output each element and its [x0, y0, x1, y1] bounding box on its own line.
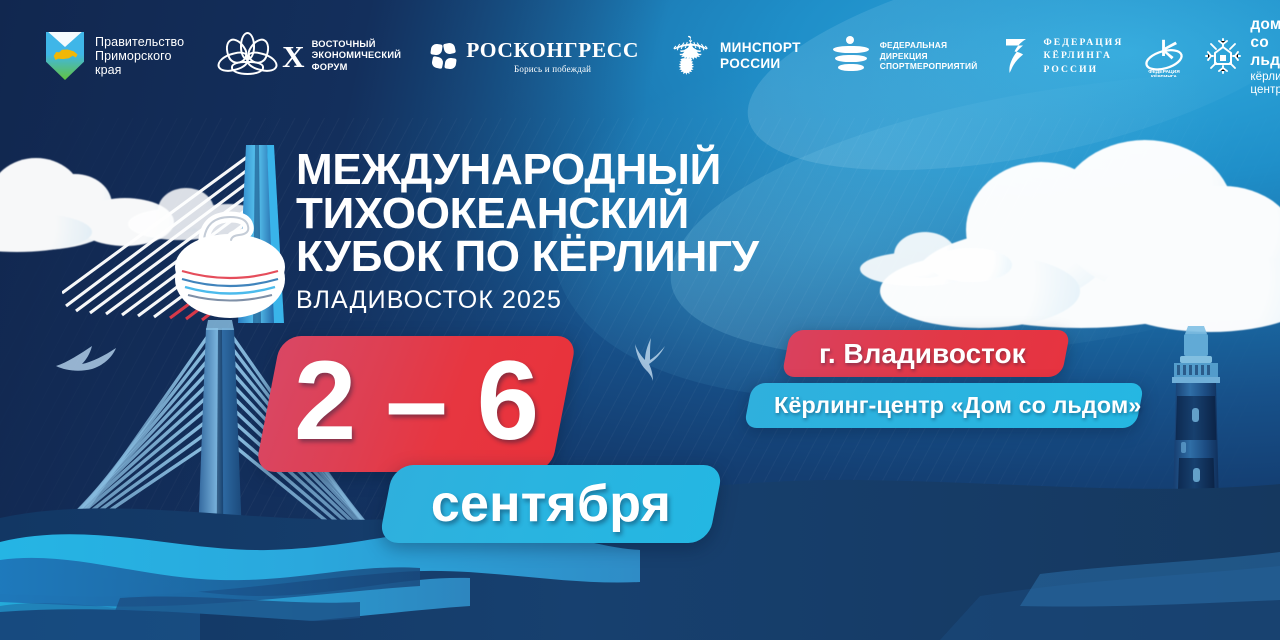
date-month-label: сентября	[431, 478, 671, 530]
sponsor-slogan: Борись и побеждай	[466, 64, 639, 74]
sponsor-line: Восточный	[312, 39, 402, 50]
snowflake-house-icon	[1205, 38, 1241, 74]
primorsky-crest-icon	[46, 32, 84, 80]
sponsor-logo-roscongress[interactable]: РОСКОНГРЕСС Борись и побеждай	[431, 38, 639, 73]
sponsor-logo-curling-federation-primorsky[interactable]: ФЕДЕРАЦИЯ КЁРЛИНГА	[1143, 35, 1197, 77]
sponsor-line: России	[1043, 63, 1123, 77]
venue-block: г. Владивосток Кёрлинг-центр «Дом со льд…	[748, 330, 1140, 428]
sponsor-line: РОССИИ	[720, 56, 801, 72]
sponsor-logo-minsport-russia[interactable]: МИНСПОРТ РОССИИ	[667, 33, 801, 79]
curling-stone-bridge-emblem	[62, 143, 304, 323]
cloud-right-small	[860, 228, 1020, 290]
lotus-icon	[218, 33, 276, 79]
sponsor-line: Федерация	[1043, 36, 1123, 50]
event-title-block: МЕЖДУНАРОДНЫЙ ТИХООКЕАНСКИЙ КУБОК ПО КЁР…	[296, 148, 759, 315]
venue-place-label: Кёрлинг-центр «Дом со льдом»	[774, 392, 1141, 419]
sponsor-line: Федеральная	[880, 40, 978, 51]
sponsor-name: РОСКОНГРЕСС	[466, 38, 639, 62]
roscongress-mark-icon	[431, 43, 458, 70]
title-line-1: МЕЖДУНАРОДНЫЙ	[296, 148, 759, 192]
sponsor-line: спортмероприятий	[880, 61, 978, 72]
fds-bowl-icon	[831, 36, 871, 76]
curling-federation-swoosh-icon	[1003, 38, 1033, 74]
sponsor-subtitle: кёрлинг-центр	[1250, 70, 1280, 96]
venue-city-badge: г. Владивосток	[786, 330, 1066, 377]
sponsor-logo-federal-sports-directorate[interactable]: Федеральная дирекция спортмероприятий	[831, 36, 978, 76]
sponsor-logo-dom-so-ldom[interactable]: дом со льдом кёрлинг-центр	[1205, 16, 1280, 96]
title-line-3: КУБОК ПО КЁРЛИНГУ	[296, 235, 759, 279]
sponsor-logo-curling-federation-russia[interactable]: Федерация кёрлинга России	[1003, 36, 1123, 77]
venue-city-label: г. Владивосток	[819, 338, 1026, 370]
sponsor-line: дирекция	[880, 51, 978, 62]
date-days-label: 2 – 6	[294, 345, 538, 463]
primorsky-curling-federation-icon: ФЕДЕРАЦИЯ КЁРЛИНГА	[1143, 35, 1185, 77]
sponsor-line: Правительство	[95, 35, 184, 49]
sponsor-line: Приморского края	[95, 49, 184, 77]
date-days-badge: 2 – 6	[268, 336, 564, 472]
sponsor-line: МИНСПОРТ	[720, 40, 801, 56]
sponsor-logo-eastern-economic-forum[interactable]: X Восточный экономический форум	[218, 33, 401, 79]
event-poster: Правительство Приморского края X Восточн…	[0, 0, 1280, 640]
double-headed-eagle-icon	[667, 33, 711, 79]
page-title: МЕЖДУНАРОДНЫЙ ТИХООКЕАНСКИЙ КУБОК ПО КЁР…	[296, 148, 759, 279]
sponsor-logo-government-primorsky[interactable]: Правительство Приморского края	[46, 32, 184, 80]
sponsor-logo-bar: Правительство Приморского края X Восточн…	[0, 0, 1280, 112]
seagull-icon-left	[52, 340, 144, 380]
event-date-block: 2 – 6 сентября	[268, 336, 716, 543]
title-line-2: ТИХООКЕАНСКИЙ	[296, 192, 759, 236]
roman-ten-label: X	[282, 41, 304, 72]
sponsor-line: форум	[312, 62, 402, 73]
sponsor-name: дом со льдом	[1250, 16, 1280, 70]
venue-place-badge: Кёрлинг-центр «Дом со льдом»	[748, 383, 1140, 428]
date-month-badge: сентября	[386, 465, 716, 543]
sponsor-line: кёрлинга	[1043, 49, 1123, 63]
title-subtitle: ВЛАДИВОСТОК 2025	[296, 286, 759, 315]
sponsor-line: экономический	[312, 50, 402, 61]
